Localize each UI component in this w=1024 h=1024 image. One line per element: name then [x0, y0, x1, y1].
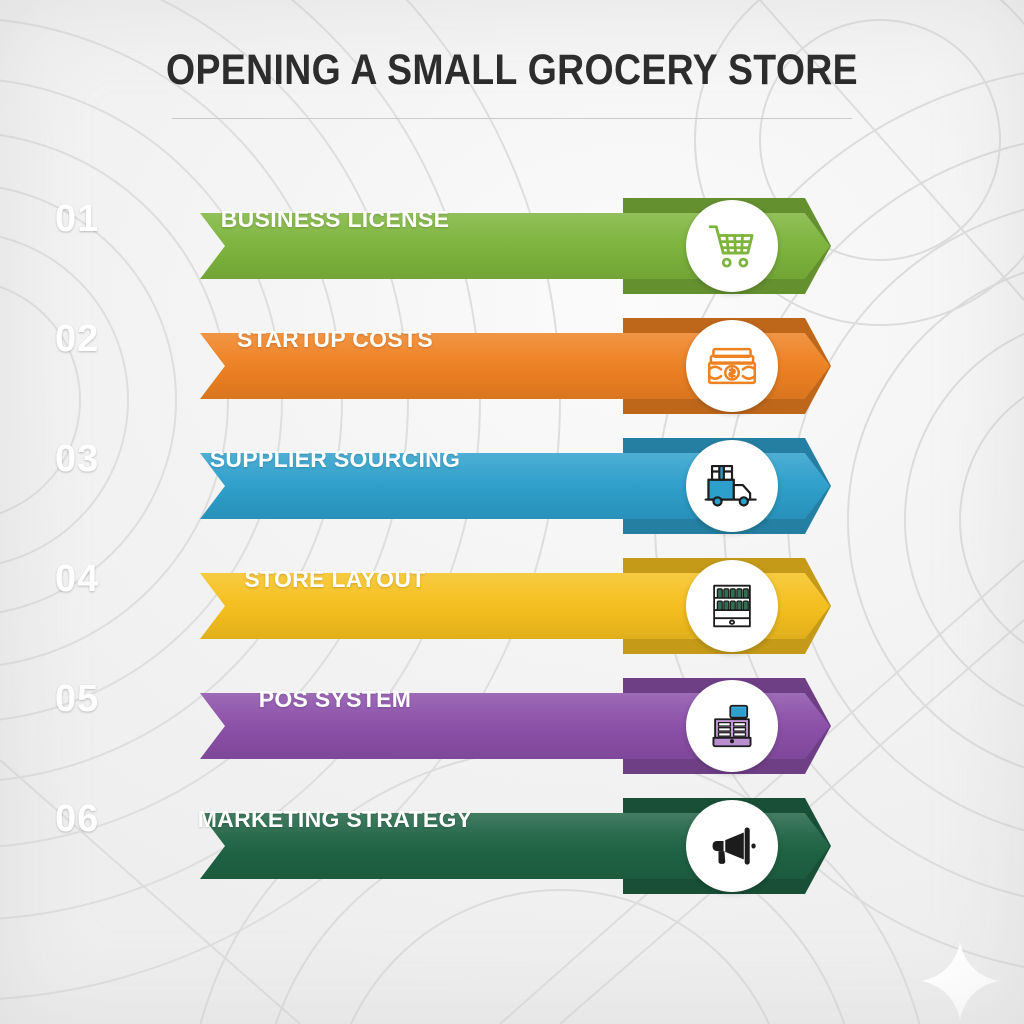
steps-list: 01 BUSINESS LICENSE: [0, 186, 1024, 906]
infographic-canvas: OPENING A SMALL GROCERY STORE 01 BUSINES…: [0, 0, 1024, 1024]
step-row[interactable]: 04 STORE LAYOUT: [0, 546, 1024, 666]
step-label: MARKETING STRATEGY: [130, 786, 540, 852]
delivery-truck-icon: [703, 457, 761, 515]
megaphone-icon: [705, 819, 759, 873]
cash-money-icon: [705, 339, 759, 393]
step-row[interactable]: 02 STARTUP COSTS: [0, 306, 1024, 426]
shelf-display-icon: [706, 580, 758, 632]
cash-register-icon: [705, 699, 759, 753]
page-title: OPENING A SMALL GROCERY STORE: [67, 48, 958, 94]
step-label: STORE LAYOUT: [130, 546, 540, 612]
step-number: 02: [55, 306, 99, 372]
step-row[interactable]: 01 BUSINESS LICENSE: [0, 186, 1024, 306]
step-number: 05: [55, 666, 99, 732]
sparkle-star: [921, 942, 999, 1020]
shopping-cart-icon: [704, 218, 760, 274]
step-number: 04: [55, 546, 99, 612]
step-number: 06: [55, 786, 99, 852]
step-number: 01: [55, 186, 99, 252]
step-icon-badge[interactable]: [686, 440, 778, 532]
step-icon-badge[interactable]: [686, 320, 778, 412]
step-row[interactable]: 06 MARKETING STRATEGY: [0, 786, 1024, 906]
title-divider: [172, 118, 852, 119]
step-number: 03: [55, 426, 99, 492]
step-icon-badge[interactable]: [686, 200, 778, 292]
step-label: BUSINESS LICENSE: [130, 186, 540, 252]
step-icon-badge[interactable]: [686, 680, 778, 772]
step-label: STARTUP COSTS: [130, 306, 540, 372]
step-icon-badge[interactable]: [686, 800, 778, 892]
step-row[interactable]: 03 SUPPLIER SOURCING: [0, 426, 1024, 546]
step-label: SUPPLIER SOURCING: [130, 426, 540, 492]
step-label: POS SYSTEM: [130, 666, 540, 732]
header: OPENING A SMALL GROCERY STORE: [0, 0, 1024, 119]
step-row[interactable]: 05 POS SYSTEM: [0, 666, 1024, 786]
step-icon-badge[interactable]: [686, 560, 778, 652]
